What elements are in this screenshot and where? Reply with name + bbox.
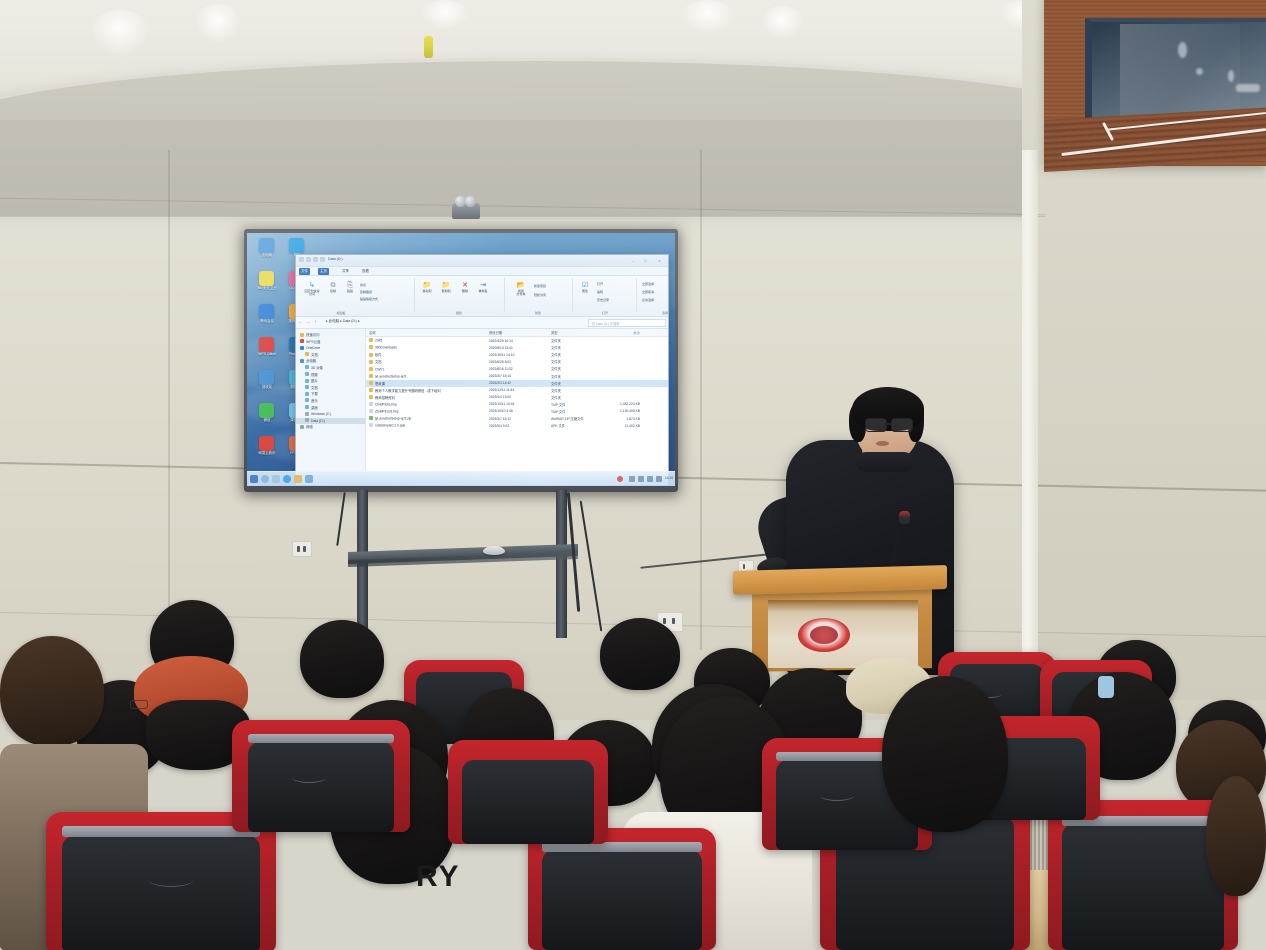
- close-button[interactable]: ×: [655, 257, 664, 264]
- desktop-icon-label: 微信: [253, 419, 281, 423]
- table-row[interactable]: 教师个人教学能力提升专题研修班 - 线下培训2023/12/11 11:44文件…: [366, 387, 668, 394]
- qat-redo-icon[interactable]: [313, 257, 318, 262]
- easy-access-command[interactable]: 轻松访问: [534, 293, 546, 297]
- file-type-cell: 文件夹: [548, 359, 600, 364]
- file-name-label: ChildPicks.tmp: [375, 403, 397, 407]
- onedrive-icon: [300, 346, 304, 350]
- ribbon-group-select: 全部选择 全部取消 反向选择 选择: [640, 277, 675, 315]
- nav-item-label: 音乐: [311, 399, 318, 403]
- network-icon: [300, 425, 304, 429]
- file-list-pane[interactable]: 名称 修改日期 类型 大小 23452022/4/29 10:14文件夹360D…: [366, 329, 668, 476]
- lecture-hall-photo: 此电脑360安全卫士腾讯会议WPS Office回收站微信网易云音乐钉钉QQ浏览…: [0, 0, 1266, 950]
- table-row[interactable]: 教师招聘资料2023/4/4 13:00文件夹: [366, 394, 668, 401]
- seat-mid-3-emboss: [820, 790, 854, 801]
- zip-icon: [369, 416, 373, 420]
- ceiling-light-2: [195, 4, 241, 44]
- file-type-cell: TMP 文件: [548, 409, 600, 414]
- group-label-new: 新建: [508, 311, 568, 315]
- desktop-icon-label: WPS Office: [253, 353, 281, 357]
- file-type-cell: 文件夹: [548, 338, 600, 343]
- invert-selection-command[interactable]: 反向选择: [642, 298, 654, 302]
- group-label-clipboard: 剪贴板: [298, 311, 384, 315]
- nav-item-folder-icon[interactable]: 视频: [296, 372, 365, 379]
- group-label-open: 打开: [576, 311, 634, 315]
- group-label-select: 选择: [640, 311, 675, 315]
- nav-item-label: Windows (C:): [311, 412, 331, 416]
- wall-vseam-1: [168, 150, 170, 650]
- pin-to-quick-access-button[interactable]: ↳ 固定到快速 访问: [300, 281, 324, 297]
- explorer-icon[interactable]: [294, 475, 302, 483]
- wechat-icon[interactable]: [259, 403, 274, 418]
- rename-button[interactable]: ⇥ 重命名: [474, 281, 492, 293]
- task-view-icon[interactable]: [272, 475, 280, 483]
- new-item-command[interactable]: 新建项目: [534, 284, 546, 288]
- ribbon-separator-1: [414, 278, 415, 312]
- table-row[interactable]: 软件2022/10/11 14:10文件夹: [366, 351, 668, 358]
- file-type-cell: APK 文件: [548, 423, 600, 428]
- file-name-cell: 2345: [366, 338, 486, 343]
- tab-file[interactable]: 文件: [299, 268, 310, 275]
- wps-icon[interactable]: [259, 337, 274, 352]
- ceiling-marker: [424, 36, 433, 58]
- file-type-cell: 文件夹: [548, 388, 600, 393]
- copy-button[interactable]: ⧉ 复制: [325, 281, 341, 293]
- nav-item-folder-icon[interactable]: 音乐: [296, 398, 365, 405]
- booth-light-3: [1228, 70, 1234, 82]
- audience-head-mid-2: [0, 636, 104, 746]
- desktop-icon-label: 网易云音乐: [253, 452, 281, 456]
- audience-glasses: [130, 700, 148, 709]
- folder-icon: [369, 388, 373, 392]
- copy-path-command[interactable]: 复制路径: [360, 290, 372, 294]
- nav-item-folder-icon[interactable]: 下载: [296, 391, 365, 398]
- seat-near-2-inner: [542, 850, 702, 950]
- minimize-button[interactable]: –: [629, 257, 638, 264]
- star-icon: [300, 333, 304, 337]
- paste-shortcut-command[interactable]: 粘贴快捷方式: [360, 297, 378, 301]
- ribbon-separator-4: [636, 278, 637, 312]
- desktop-icon-label: 360安全卫士: [253, 287, 281, 291]
- file-date-cell: 2022/8/16 11:32: [486, 367, 548, 371]
- ceiling-light-5: [760, 6, 804, 40]
- file-type-cell: 文件夹: [548, 352, 600, 357]
- column-header-date[interactable]: 修改日期: [486, 330, 548, 335]
- file-name-cell: jyLauncherSetup-aj.5.zip: [366, 416, 486, 421]
- battery-icon[interactable]: [647, 476, 653, 482]
- nav-item-drive-icon[interactable]: Windows (C:): [296, 411, 365, 418]
- file-name-label: 思政课: [375, 382, 385, 386]
- start-icon[interactable]: [250, 475, 258, 483]
- nav-item-onedrive-icon[interactable]: OneDrive: [296, 345, 365, 352]
- desktop-icon-label: 腾讯会议: [253, 320, 281, 324]
- file-name-cell: 360Downloads: [366, 345, 486, 350]
- security-icon[interactable]: [259, 271, 274, 286]
- history-command[interactable]: 历史记录: [597, 298, 609, 302]
- volume-icon[interactable]: [638, 476, 644, 482]
- paste-button[interactable]: ⎘ 粘贴: [342, 281, 358, 293]
- ceiling-light-3: [420, 0, 470, 30]
- tv-stand-post-right: [556, 490, 567, 638]
- nav-item-folder-icon[interactable]: 桌面: [296, 405, 365, 412]
- folder-icon: [305, 398, 309, 402]
- pc-icon: [300, 359, 304, 363]
- booth-lamp: [1236, 84, 1260, 92]
- folder-icon: [369, 381, 373, 385]
- file-name-label: 2345: [375, 339, 382, 343]
- file-name-label: jyLauncherSetup-aj.fl: [375, 374, 406, 378]
- booth-light-1: [1178, 42, 1187, 58]
- folder-icon: [305, 385, 309, 389]
- table-row[interactable]: jyLauncherSetup-aj.fl2023/3/7 15:14文件夹: [366, 372, 668, 379]
- folder-icon: [369, 345, 373, 349]
- search-input[interactable]: 在 Data (D:) 中搜索: [588, 319, 666, 327]
- folder-icon: [305, 392, 309, 396]
- this-pc-icon[interactable]: [259, 238, 274, 253]
- file-name-cell: jyLauncherSetup-aj.fl: [366, 374, 486, 379]
- explorer-body: 快速访问WPS云盘OneDrive文档此电脑3D 对象视频图片文档下载音乐桌面W…: [296, 329, 668, 476]
- ribbon-group-new: 📂 新建 文件夹 新建项目 轻松访问 新建: [508, 277, 568, 315]
- table-row[interactable]: ZtuMPE3J3.tmp2023/10/10 4:46TMP 文件1,130,…: [366, 408, 668, 415]
- wall-seam-2: [0, 216, 1046, 217]
- folder-icon: [369, 367, 373, 371]
- folder-icon: [305, 379, 309, 383]
- audience-head-fg-2: [1206, 776, 1266, 896]
- podium-emblem-center: [810, 626, 838, 644]
- nav-item-network-icon[interactable]: 网络: [296, 424, 365, 431]
- nav-item-drive-icon[interactable]: Data (D:): [296, 418, 365, 425]
- file-date-cell: 2023/3/3 14:42: [486, 381, 548, 385]
- audience-head-fg-1: [882, 676, 1008, 832]
- nav-item-label: OneDrive: [306, 346, 320, 350]
- file-type-cell: TMP 文件: [548, 402, 600, 407]
- seat-mid-1-emboss: [292, 772, 326, 783]
- ribbon[interactable]: ↳ 固定到快速 访问 ⧉ 复制 ⎘ 粘贴 剪切 复制路: [296, 276, 668, 317]
- music-icon[interactable]: [259, 436, 274, 451]
- nav-item-label: 此电脑: [306, 359, 316, 363]
- dingtalk-icon[interactable]: [289, 238, 304, 253]
- file-date-cell: 2023/10/11 10:44: [486, 402, 548, 406]
- file-name-cell: ZtuMPE3J3.tmp: [366, 409, 486, 414]
- presenter-collar: [856, 452, 914, 472]
- file-size-cell: 1,874 KB: [600, 417, 644, 421]
- seat-near-1-emboss: [148, 872, 194, 887]
- file-name-label: noteSimple0.2.0.apk: [375, 424, 405, 428]
- file-name-cell: CWYL: [366, 367, 486, 372]
- ribbon-separator-3: [572, 278, 573, 312]
- folder-icon: [369, 374, 373, 378]
- tab-view[interactable]: 查看: [360, 268, 371, 275]
- breadcrumb[interactable]: ▸ 此电脑 ▸ Data (D:) ▸: [326, 319, 360, 324]
- booth-window-reflection: [1120, 24, 1240, 116]
- file-date-cell: 2023/12/11 11:44: [486, 388, 548, 392]
- file-date-cell: 2023/5/4 9:02: [486, 424, 548, 428]
- seat-near-4-inner: [1062, 824, 1224, 950]
- ribbon-group-open: ☑ 属性 打开 编辑 历史记录 打开: [576, 277, 634, 315]
- file-type-cell: 文件夹: [548, 366, 600, 371]
- tab-share[interactable]: 共享: [340, 268, 351, 275]
- column-headers[interactable]: 名称 修改日期 类型 大小: [366, 329, 668, 337]
- cut-command[interactable]: 剪切: [360, 283, 366, 287]
- address-bar[interactable]: ← → ↑ ▸ 此电脑 ▸ Data (D:) ▸ 在 Data (D:) 中搜…: [296, 317, 668, 329]
- select-all-command[interactable]: 全部选择: [642, 282, 654, 286]
- recycle-bin-icon[interactable]: [259, 370, 274, 385]
- file-name-cell: 思政课: [366, 381, 486, 386]
- meeting-icon[interactable]: [259, 304, 274, 319]
- seat-near-1-bar: [62, 826, 260, 837]
- file-name-cell: 文档: [366, 359, 486, 364]
- folder-icon: [305, 405, 309, 409]
- edge-icon[interactable]: [283, 475, 291, 483]
- edit-command[interactable]: 编辑: [597, 290, 603, 294]
- nav-item-label: 下载: [311, 392, 318, 396]
- notification-icon[interactable]: [656, 476, 662, 482]
- nav-item-label: 视频: [311, 373, 318, 377]
- file-size-cell: 11,402 KB: [600, 424, 644, 428]
- properties-button[interactable]: ☑ 属性: [576, 281, 594, 293]
- drive-icon: [305, 418, 309, 422]
- file-size-cell: 1,452,224 KB: [600, 402, 644, 406]
- table-row[interactable]: 文档2022/6/25 8:02文件夹: [366, 358, 668, 365]
- booth-light-2: [1196, 68, 1203, 75]
- nav-item-label: Data (D:): [311, 419, 325, 423]
- group-label-organize: 组织: [418, 311, 500, 315]
- nav-item-folder-icon[interactable]: 文档: [296, 352, 365, 359]
- drive-icon: [305, 412, 309, 416]
- file-date-cell: 2023/3/7 15:14: [486, 374, 548, 378]
- taskbar[interactable]: 14:26: [247, 471, 675, 486]
- nav-item-label: 文档: [311, 386, 318, 390]
- folder-icon: [305, 365, 309, 369]
- tv-screen: 此电脑360安全卫士腾讯会议WPS Office回收站微信网易云音乐钉钉QQ浏览…: [247, 233, 675, 486]
- file-type-cell: 文件夹: [548, 345, 600, 350]
- quick-access-toolbar[interactable]: [299, 257, 325, 262]
- nav-item-pc-icon[interactable]: 此电脑: [296, 358, 365, 365]
- nav-item-label: 网络: [306, 425, 313, 429]
- seat-mid-1-bar: [248, 734, 394, 743]
- file-name-label: 360Downloads: [375, 346, 397, 350]
- seat-mid-1-inner: [248, 742, 394, 832]
- table-row[interactable]: ChildPicks.tmp2023/10/11 10:44TMP 文件1,45…: [366, 401, 668, 408]
- table-row[interactable]: jyLauncherSetup-aj.5.zip2023/3/7 15:12Wi…: [366, 415, 668, 422]
- nav-item-star-icon[interactable]: 快速访问: [296, 332, 365, 339]
- audience-head-far-2: [300, 620, 384, 698]
- navigation-buttons[interactable]: ← → ↑: [298, 319, 318, 324]
- file-name-cell: 教师个人教学能力提升专题研修班 - 线下培训: [366, 388, 486, 393]
- file-date-cell: 2023/3/7 15:12: [486, 417, 548, 421]
- file-explorer-window[interactable]: Data (D:) – □ × 文件 主页 共享 查看 ↳: [295, 254, 669, 474]
- delete-button[interactable]: ✕ 删除: [457, 281, 473, 293]
- camera-icon: [452, 203, 480, 219]
- select-none-command[interactable]: 全部取消: [642, 290, 654, 294]
- store-icon[interactable]: [305, 475, 313, 483]
- file-date-cell: 2023/4/4 13:00: [486, 395, 548, 399]
- table-row[interactable]: noteSimple0.2.0.apk2023/5/4 9:02APK 文件11…: [366, 422, 668, 429]
- nav-item-label: 3D 对象: [311, 366, 323, 370]
- nav-item-folder-icon[interactable]: 3D 对象: [296, 365, 365, 372]
- wall-pillar: [1022, 150, 1038, 670]
- qat-properties-icon[interactable]: [320, 257, 325, 262]
- hoodie-logo-text: RY: [416, 860, 461, 894]
- audience-head-far-3: [600, 618, 680, 690]
- cloud-icon: [300, 339, 304, 343]
- table-row[interactable]: 思政课2023/3/3 14:42文件夹: [366, 380, 668, 387]
- maximize-button[interactable]: □: [641, 257, 650, 264]
- table-row[interactable]: 23452022/4/29 10:14文件夹: [366, 337, 668, 344]
- file-date-cell: 2020/8/13 13:41: [486, 346, 548, 350]
- ribbon-separator-2: [504, 278, 505, 312]
- column-header-type[interactable]: 类型: [548, 330, 600, 335]
- desktop-icon-label: 回收站: [253, 386, 281, 390]
- seat-mid-2-inner: [462, 760, 594, 844]
- file-date-cell: 2022/4/29 10:14: [486, 339, 548, 343]
- column-header-name[interactable]: 名称: [366, 330, 486, 335]
- ribbon-tab-strip[interactable]: 文件 主页 共享 查看: [296, 267, 668, 276]
- nav-item-label: 桌面: [311, 406, 318, 410]
- file-name-cell: noteSimple0.2.0.apk: [366, 423, 486, 428]
- ceiling-light-1: [90, 10, 150, 56]
- network-icon[interactable]: [629, 476, 635, 482]
- ribbon-group-clipboard: ↳ 固定到快速 访问 ⧉ 复制 ⎘ 粘贴 剪切 复制路: [298, 277, 384, 315]
- taskbar-clock[interactable]: 14:26: [665, 476, 673, 480]
- nav-item-cloud-icon[interactable]: WPS云盘: [296, 339, 365, 346]
- copy-to-button[interactable]: 📁 复制到: [437, 281, 455, 293]
- file-name-cell: 软件: [366, 352, 486, 357]
- file-size-cell: 1,130,408 KB: [600, 409, 644, 413]
- soffit-edge-highlight: [0, 58, 1140, 208]
- column-header-size[interactable]: 大小: [600, 330, 644, 335]
- nav-item-label: WPS云盘: [306, 340, 321, 344]
- table-row[interactable]: CWYL2022/8/16 11:32文件夹: [366, 365, 668, 372]
- file-name-label: jyLauncherSetup-aj.5.zip: [375, 417, 411, 421]
- navigation-pane[interactable]: 快速访问WPS云盘OneDrive文档此电脑3D 对象视频图片文档下载音乐桌面W…: [296, 329, 366, 476]
- folder-icon: [369, 338, 373, 342]
- nav-item-folder-icon[interactable]: 文档: [296, 385, 365, 392]
- file-type-cell: 文件夹: [548, 395, 600, 400]
- desktop-icon-label: 此电脑: [253, 254, 281, 258]
- folder-icon: [305, 372, 309, 376]
- seat-near-1-inner: [62, 836, 260, 950]
- wall-vseam-2: [700, 150, 702, 650]
- windows-desktop: 此电脑360安全卫士腾讯会议WPS Office回收站微信网易云音乐钉钉QQ浏览…: [247, 233, 675, 486]
- microphone-head: [899, 511, 910, 524]
- file-name-label: 文档: [375, 360, 382, 364]
- qat-undo-icon[interactable]: [306, 257, 311, 262]
- input-method-icon[interactable]: [617, 476, 623, 482]
- file-date-cell: 2022/10/11 14:10: [486, 353, 548, 357]
- file-icon: [369, 423, 373, 427]
- file-name-label: 教师招聘资料: [375, 396, 395, 400]
- file-name-cell: ChildPicks.tmp: [366, 402, 486, 407]
- nav-item-folder-icon[interactable]: 图片: [296, 378, 365, 385]
- file-date-cell: 2022/6/25 8:02: [486, 360, 548, 364]
- file-rows-container[interactable]: 23452022/4/29 10:14文件夹360Downloads2020/8…: [366, 337, 668, 429]
- table-row[interactable]: 360Downloads2020/8/13 13:41文件夹: [366, 344, 668, 351]
- explorer-title-bar[interactable]: Data (D:) – □ ×: [296, 255, 668, 267]
- window-title: Data (D:): [328, 257, 343, 261]
- folder-icon: [369, 360, 373, 364]
- nav-item-label: 快速访问: [306, 333, 320, 337]
- search-icon[interactable]: [261, 475, 269, 483]
- folder-icon: [369, 395, 373, 399]
- ceiling-light-4: [680, 0, 736, 34]
- file-name-cell: 教师招聘资料: [366, 395, 486, 400]
- audience-hair-clip: [1098, 676, 1114, 698]
- file-icon: [369, 402, 373, 406]
- ribbon-group-organize: 📁 移动到 📁 复制到 ✕ 删除 ⇥ 重命名: [418, 277, 500, 315]
- presenter-glasses-bridge: [885, 423, 892, 425]
- presenter-mouth: [876, 441, 889, 446]
- file-type-cell: 文件夹: [548, 381, 600, 386]
- nav-item-label: 文档: [311, 353, 318, 357]
- file-type-cell: 文件夹: [548, 374, 600, 379]
- file-name-label: CWYL: [375, 367, 385, 371]
- file-name-label: 软件: [375, 353, 382, 357]
- new-folder-button[interactable]: 📂 新建 文件夹: [510, 281, 532, 297]
- file-name-label: ZtuMPE3J3.tmp: [375, 410, 399, 414]
- presenter-glasses-right: [891, 418, 913, 432]
- file-icon: [369, 409, 373, 413]
- qat-save-icon[interactable]: [299, 257, 304, 262]
- file-name-label: 教师个人教学能力提升专题研修班 - 线下培训: [375, 389, 441, 393]
- wall-socket-left: [292, 541, 312, 557]
- move-to-button[interactable]: 📁 移动到: [418, 281, 436, 293]
- nav-item-label: 图片: [311, 379, 318, 383]
- computer-mouse: [483, 546, 505, 555]
- open-command[interactable]: 打开: [597, 282, 603, 286]
- file-type-cell: WinRAR ZIP 压缩文件: [548, 416, 600, 421]
- folder-icon: [305, 352, 309, 356]
- tab-home[interactable]: 主页: [318, 268, 329, 275]
- presenter-glasses-left: [865, 418, 887, 432]
- file-date-cell: 2023/10/10 4:46: [486, 409, 548, 413]
- folder-icon: [369, 353, 373, 357]
